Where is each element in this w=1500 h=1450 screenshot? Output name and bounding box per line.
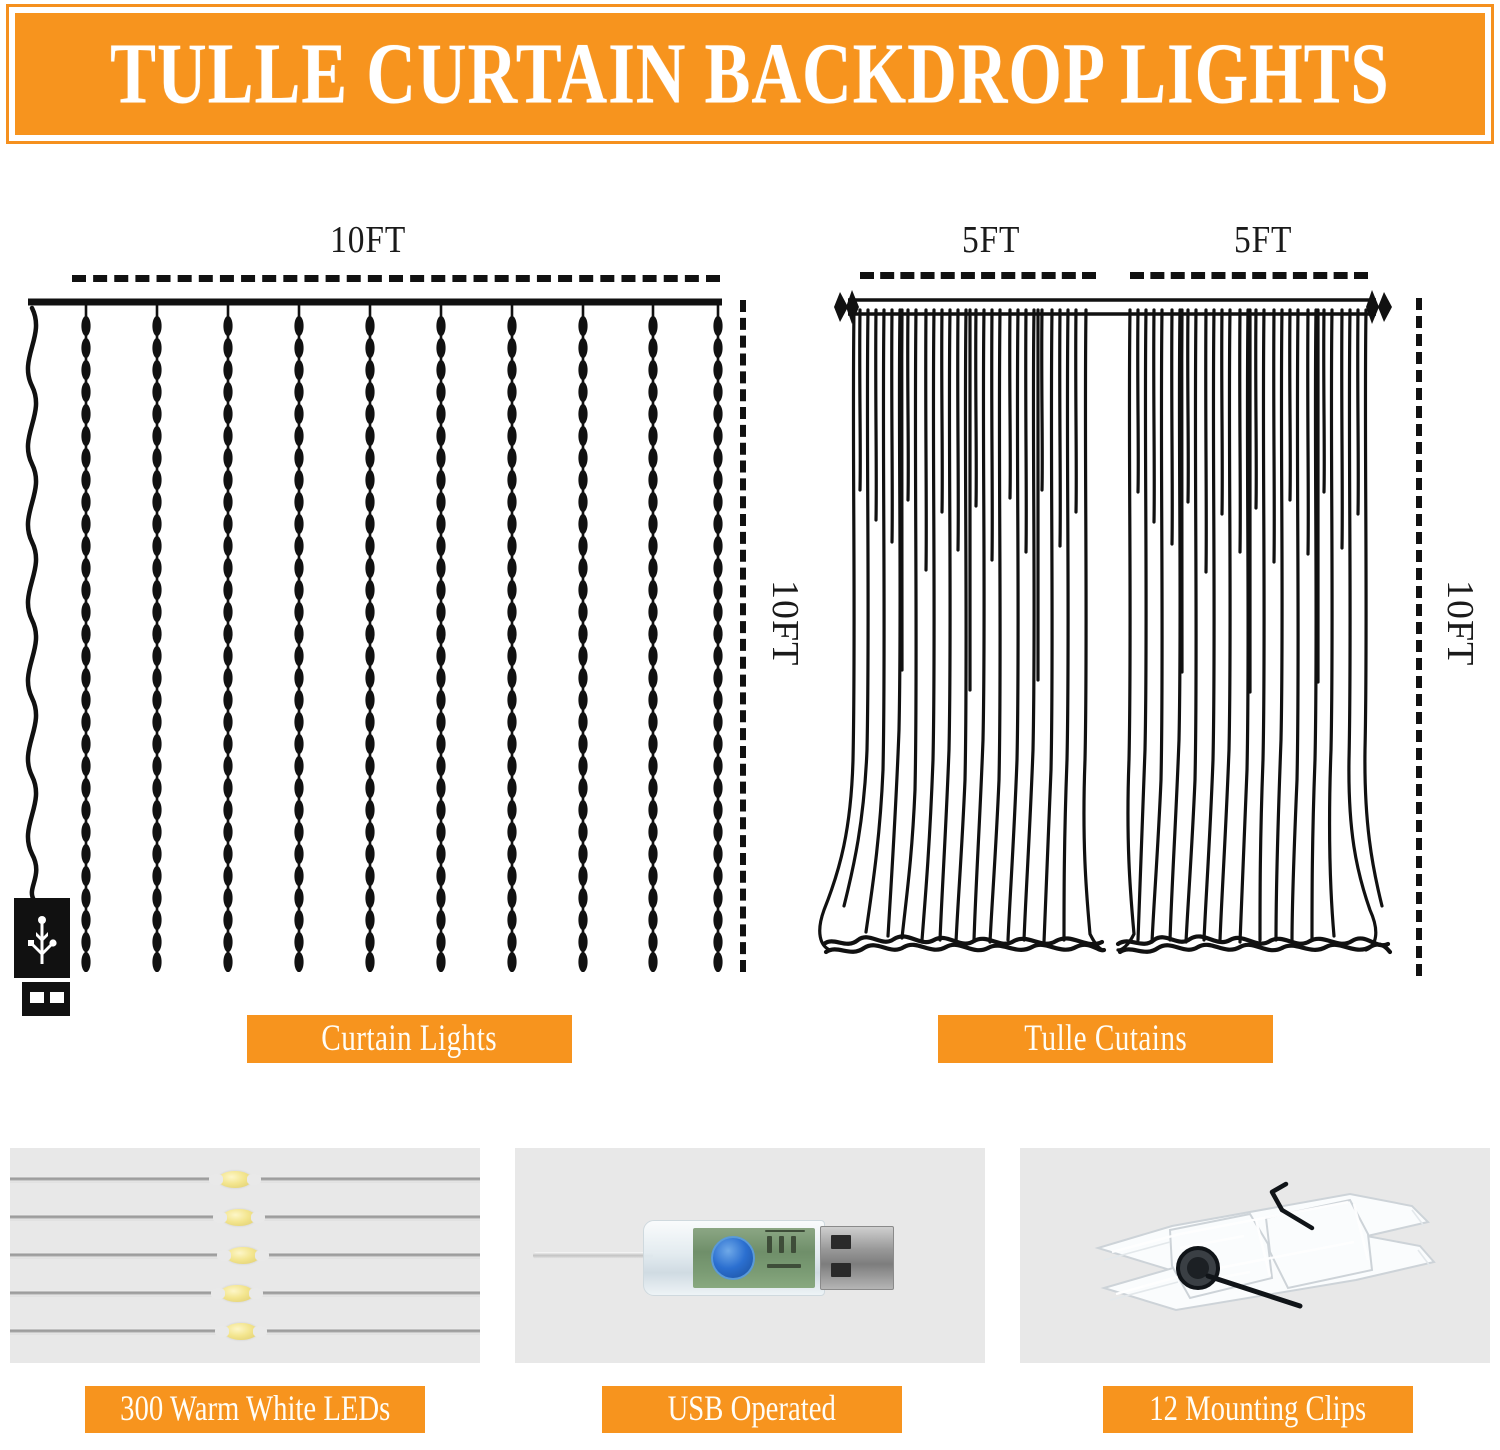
usb-component <box>791 1236 796 1253</box>
caption-clips: 12 Mounting Clips <box>1103 1386 1413 1433</box>
light-strand <box>365 302 374 972</box>
power-cord <box>28 308 36 900</box>
page-title: TULLE CURTAIN BACKDROP LIGHTS <box>110 30 1389 117</box>
led-wire-strand <box>10 1176 480 1183</box>
feature-card-usb <box>515 1148 985 1363</box>
light-strand <box>152 302 161 972</box>
mounting-clip-photo <box>1020 1148 1490 1363</box>
light-strand <box>713 302 722 972</box>
curtain-lights-drawing <box>0 150 800 1080</box>
header-frame: TULLE CURTAIN BACKDROP LIGHTS <box>6 4 1494 144</box>
led-wire-strand <box>10 1214 480 1221</box>
led-wire-strands-photo <box>10 1148 480 1363</box>
light-strand <box>223 302 232 972</box>
header-banner: TULLE CURTAIN BACKDROP LIGHTS <box>15 13 1485 135</box>
led-bead <box>224 1323 258 1340</box>
caption-leds: 300 Warm White LEDs <box>85 1386 425 1433</box>
caption-curtain-lights: Curtain Lights <box>247 1015 572 1063</box>
feature-cards-row: 300 Warm White LEDs USB Operated <box>0 1148 1500 1450</box>
usb-a-plug <box>820 1226 894 1290</box>
usb-component <box>779 1236 784 1253</box>
light-strand <box>294 302 303 972</box>
caption-usb-text: USB Operated <box>668 1391 836 1427</box>
light-strand <box>81 302 90 972</box>
mounting-clip-drawing <box>1020 1148 1490 1363</box>
curtain-lights-diagram: 10FT 10FT <box>0 150 800 1080</box>
caption-clips-text: 12 Mounting Clips <box>1150 1391 1367 1427</box>
light-strand <box>436 302 445 972</box>
infographic-page: TULLE CURTAIN BACKDROP LIGHTS 10FT 10FT <box>0 0 1500 1450</box>
rod-finial-right <box>1366 290 1392 324</box>
usb-power-button[interactable] <box>711 1236 755 1280</box>
caption-tulle-curtains: Tulle Cutains <box>938 1015 1273 1063</box>
light-strand <box>578 302 587 972</box>
usb-component <box>767 1236 772 1253</box>
usb-controller-photo <box>515 1148 985 1363</box>
diagram-section: 10FT 10FT <box>0 150 1500 1080</box>
caption-tulle-curtains-text: Tulle Cutains <box>1024 1020 1187 1057</box>
led-wire-strand <box>10 1328 480 1335</box>
light-strand <box>648 302 657 972</box>
tulle-curtains-drawing <box>790 150 1500 1080</box>
light-strand <box>507 302 516 972</box>
feature-card-leds <box>10 1148 480 1363</box>
usb-component <box>765 1230 805 1232</box>
caption-curtain-lights-text: Curtain Lights <box>322 1020 498 1057</box>
caption-usb: USB Operated <box>602 1386 902 1433</box>
light-strands <box>81 302 722 972</box>
tulle-panel-left-hem <box>824 936 1102 944</box>
led-bead <box>222 1209 256 1226</box>
led-bead <box>226 1247 260 1264</box>
led-bead <box>220 1285 254 1302</box>
tulle-panel-left <box>820 310 1104 952</box>
usb-component <box>767 1264 801 1268</box>
tulle-curtains-diagram: 5FT 5FT 10FT <box>790 150 1500 1080</box>
caption-leds-text: 300 Warm White LEDs <box>120 1391 390 1427</box>
tulle-panel-right <box>1118 310 1390 952</box>
usb-lead-wire <box>533 1252 653 1259</box>
led-bead <box>218 1171 252 1188</box>
led-wire-strand <box>10 1290 480 1297</box>
feature-card-clips <box>1020 1148 1490 1363</box>
led-wire-strand <box>10 1252 480 1259</box>
